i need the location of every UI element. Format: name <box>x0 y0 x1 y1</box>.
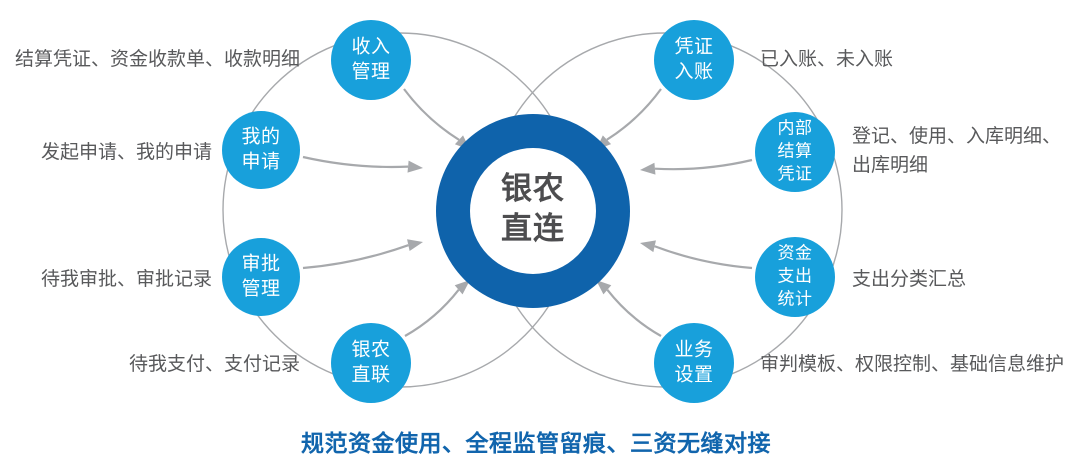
node-label-business-settings-line-2: 设置 <box>674 364 713 386</box>
center-label-line-2: 直连 <box>501 211 565 246</box>
node-label-approval-management-line-1: 审批 <box>241 253 280 275</box>
arrow-line-approval-management <box>303 245 408 268</box>
node-label-income-management-line-1: 收入 <box>351 36 390 58</box>
description-bank-farm-direct-link: 待我支付、支付记录 <box>110 350 300 379</box>
node-label-voucher-posting-line-1: 凭证 <box>674 36 713 58</box>
description-voucher-posting: 已入账、未入账 <box>760 45 1000 74</box>
node-internal-settlement-voucher[interactable]: 内部结算凭证 <box>755 112 835 192</box>
arrow-line-my-application <box>303 157 408 167</box>
node-label-my-application-line-2: 申请 <box>241 151 280 173</box>
arrow-head-approval-management <box>407 239 423 251</box>
arrow-head-fund-expenditure-statistics <box>640 240 656 252</box>
node-circle-my-application[interactable] <box>222 111 300 189</box>
arrow-line-bank-farm-direct-link <box>405 290 459 336</box>
node-fund-expenditure-statistics[interactable]: 资金支出统计 <box>755 237 835 317</box>
arrow-line-internal-settlement-voucher <box>655 160 752 169</box>
node-income-management[interactable]: 收入管理 <box>331 20 411 100</box>
description-fund-expenditure-statistics: 支出分类汇总 <box>852 265 1052 294</box>
description-approval-management: 待我审批、审批记录 <box>0 265 212 294</box>
node-circle-income-management[interactable] <box>331 20 411 100</box>
node-label-internal-settlement-voucher-line-3: 凭证 <box>778 164 813 183</box>
description-income-management: 结算凭证、资金收款单、收款明细 <box>0 45 300 74</box>
node-label-bank-farm-direct-link-line-1: 银农 <box>351 339 390 361</box>
node-circle-business-settings[interactable] <box>654 323 734 403</box>
node-label-my-application-line-1: 我的 <box>241 126 280 148</box>
node-label-business-settings-line-1: 业务 <box>674 339 713 361</box>
node-label-fund-expenditure-statistics-line-1: 资金 <box>778 243 813 262</box>
node-label-internal-settlement-voucher-line-1: 内部 <box>778 118 813 137</box>
arrow-line-business-settings <box>607 290 661 336</box>
arrow-head-internal-settlement-voucher <box>640 163 655 175</box>
node-circle-bank-farm-direct-link[interactable] <box>331 323 411 403</box>
node-bank-farm-direct-link[interactable]: 银农直联 <box>331 323 411 403</box>
node-circle-voucher-posting[interactable] <box>654 20 734 100</box>
node-label-bank-farm-direct-link-line-2: 直联 <box>351 364 390 386</box>
description-business-settings: 审判模板、权限控制、基础信息维护 <box>760 350 1072 379</box>
description-my-application: 发起申请、我的申请 <box>0 138 212 167</box>
node-label-approval-management-line-2: 管理 <box>241 278 280 300</box>
node-circle-approval-management[interactable] <box>222 238 300 316</box>
node-my-application[interactable]: 我的申请 <box>222 111 300 189</box>
node-business-settings[interactable]: 业务设置 <box>654 323 734 403</box>
node-approval-management[interactable]: 审批管理 <box>222 238 300 316</box>
center-hub: 银农直连 <box>436 114 630 308</box>
node-voucher-posting[interactable]: 凭证入账 <box>654 20 734 100</box>
node-label-fund-expenditure-statistics-line-3: 统计 <box>778 289 813 308</box>
arrow-line-voucher-posting <box>607 89 661 140</box>
arrow-head-my-application <box>408 161 423 173</box>
description-internal-settlement-voucher: 登记、使用、入库明细、 出库明细 <box>852 122 1072 180</box>
page-caption: 规范资金使用、全程监管留痕、三资无缝对接 <box>0 424 1072 458</box>
node-label-income-management-line-2: 管理 <box>351 61 390 83</box>
arrow-line-income-management <box>404 89 459 140</box>
node-label-fund-expenditure-statistics-line-2: 支出 <box>778 266 813 285</box>
node-label-voucher-posting-line-2: 入账 <box>674 61 713 83</box>
center-label-line-1: 银农 <box>501 171 565 206</box>
node-label-internal-settlement-voucher-line-2: 结算 <box>778 141 813 160</box>
arrow-line-fund-expenditure-statistics <box>655 246 752 268</box>
